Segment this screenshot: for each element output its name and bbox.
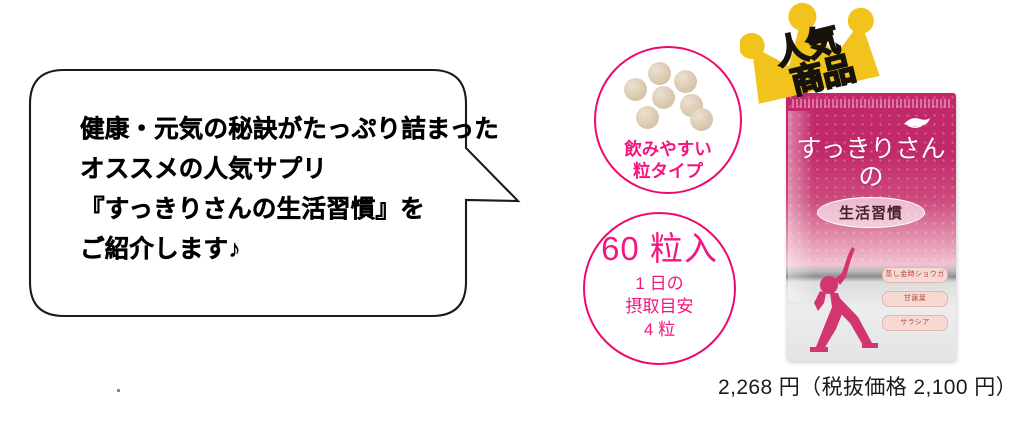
feature-circle-tablet-type: 飲みやすい 粒タイプ — [594, 46, 742, 194]
pill-icon — [636, 106, 659, 129]
product-package: すっきりさんの 生活習慣 蒸し金時ショウガ 甘藷葉 サラ — [786, 93, 956, 361]
ingredient-badge: 蒸し金時ショウガ — [882, 267, 948, 283]
tablet-circle-caption: 飲みやすい 粒タイプ — [596, 138, 740, 182]
package-brand-name: すっきりさんの — [786, 135, 956, 191]
tablet-caption-line-2: 粒タイプ — [596, 160, 740, 182]
bird-icon — [902, 115, 932, 133]
price-text: 2,268 円（税抜価格 2,100 円） — [718, 371, 1017, 401]
tablet-pill-cluster — [612, 62, 728, 130]
tablet-count-headline: 60 粒入 — [585, 230, 734, 268]
tablet-caption-line-1: 飲みやすい — [596, 138, 740, 160]
feature-circle-tablet-count: 60 粒入 1 日の 摂取目安 4 粒 — [583, 212, 736, 365]
speech-bubble: 健康・元気の秘訣がたっぷり詰まった オススメの人気サプリ 『すっきりさんの生活習… — [28, 68, 520, 318]
pill-icon — [624, 78, 647, 101]
bubble-line-3: 『すっきりさんの生活習慣』を — [80, 190, 500, 230]
pill-icon — [690, 108, 713, 131]
stray-dot-artifact — [117, 389, 120, 392]
pill-icon — [674, 70, 697, 93]
pill-icon — [648, 62, 671, 85]
package-subtitle-oval: 生活習慣 — [817, 197, 925, 228]
bubble-line-2: オススメの人気サプリ — [80, 150, 500, 190]
package-body: すっきりさんの 生活習慣 蒸し金時ショウガ 甘藷葉 サラ — [786, 93, 956, 361]
count-sub-line-3: 4 粒 — [585, 318, 734, 341]
tablet-count-subtext: 1 日の 摂取目安 4 粒 — [585, 272, 734, 341]
package-subtitle: 生活習慣 — [839, 202, 903, 223]
ingredient-badge: 甘藷葉 — [882, 291, 948, 307]
bubble-line-1: 健康・元気の秘訣がたっぷり詰まった — [80, 110, 500, 150]
pill-icon — [652, 86, 675, 109]
package-ingredient-list: 蒸し金時ショウガ 甘藷葉 サラシア — [882, 267, 948, 339]
ingredient-badge: サラシア — [882, 315, 948, 331]
bubble-line-4: ご紹介します♪ — [80, 230, 500, 270]
speech-bubble-text: 健康・元気の秘訣がたっぷり詰まった オススメの人気サプリ 『すっきりさんの生活習… — [80, 110, 500, 270]
package-brand-text: すっきりさんの — [796, 134, 945, 191]
yoga-figure-icon — [802, 243, 894, 355]
promo-banner: 健康・元気の秘訣がたっぷり詰まった オススメの人気サプリ 『すっきりさんの生活習… — [0, 0, 1024, 427]
count-sub-line-1: 1 日の — [585, 272, 734, 295]
popular-product-badge: 人気 商品 — [740, 2, 890, 114]
count-sub-line-2: 摂取目安 — [585, 295, 734, 318]
